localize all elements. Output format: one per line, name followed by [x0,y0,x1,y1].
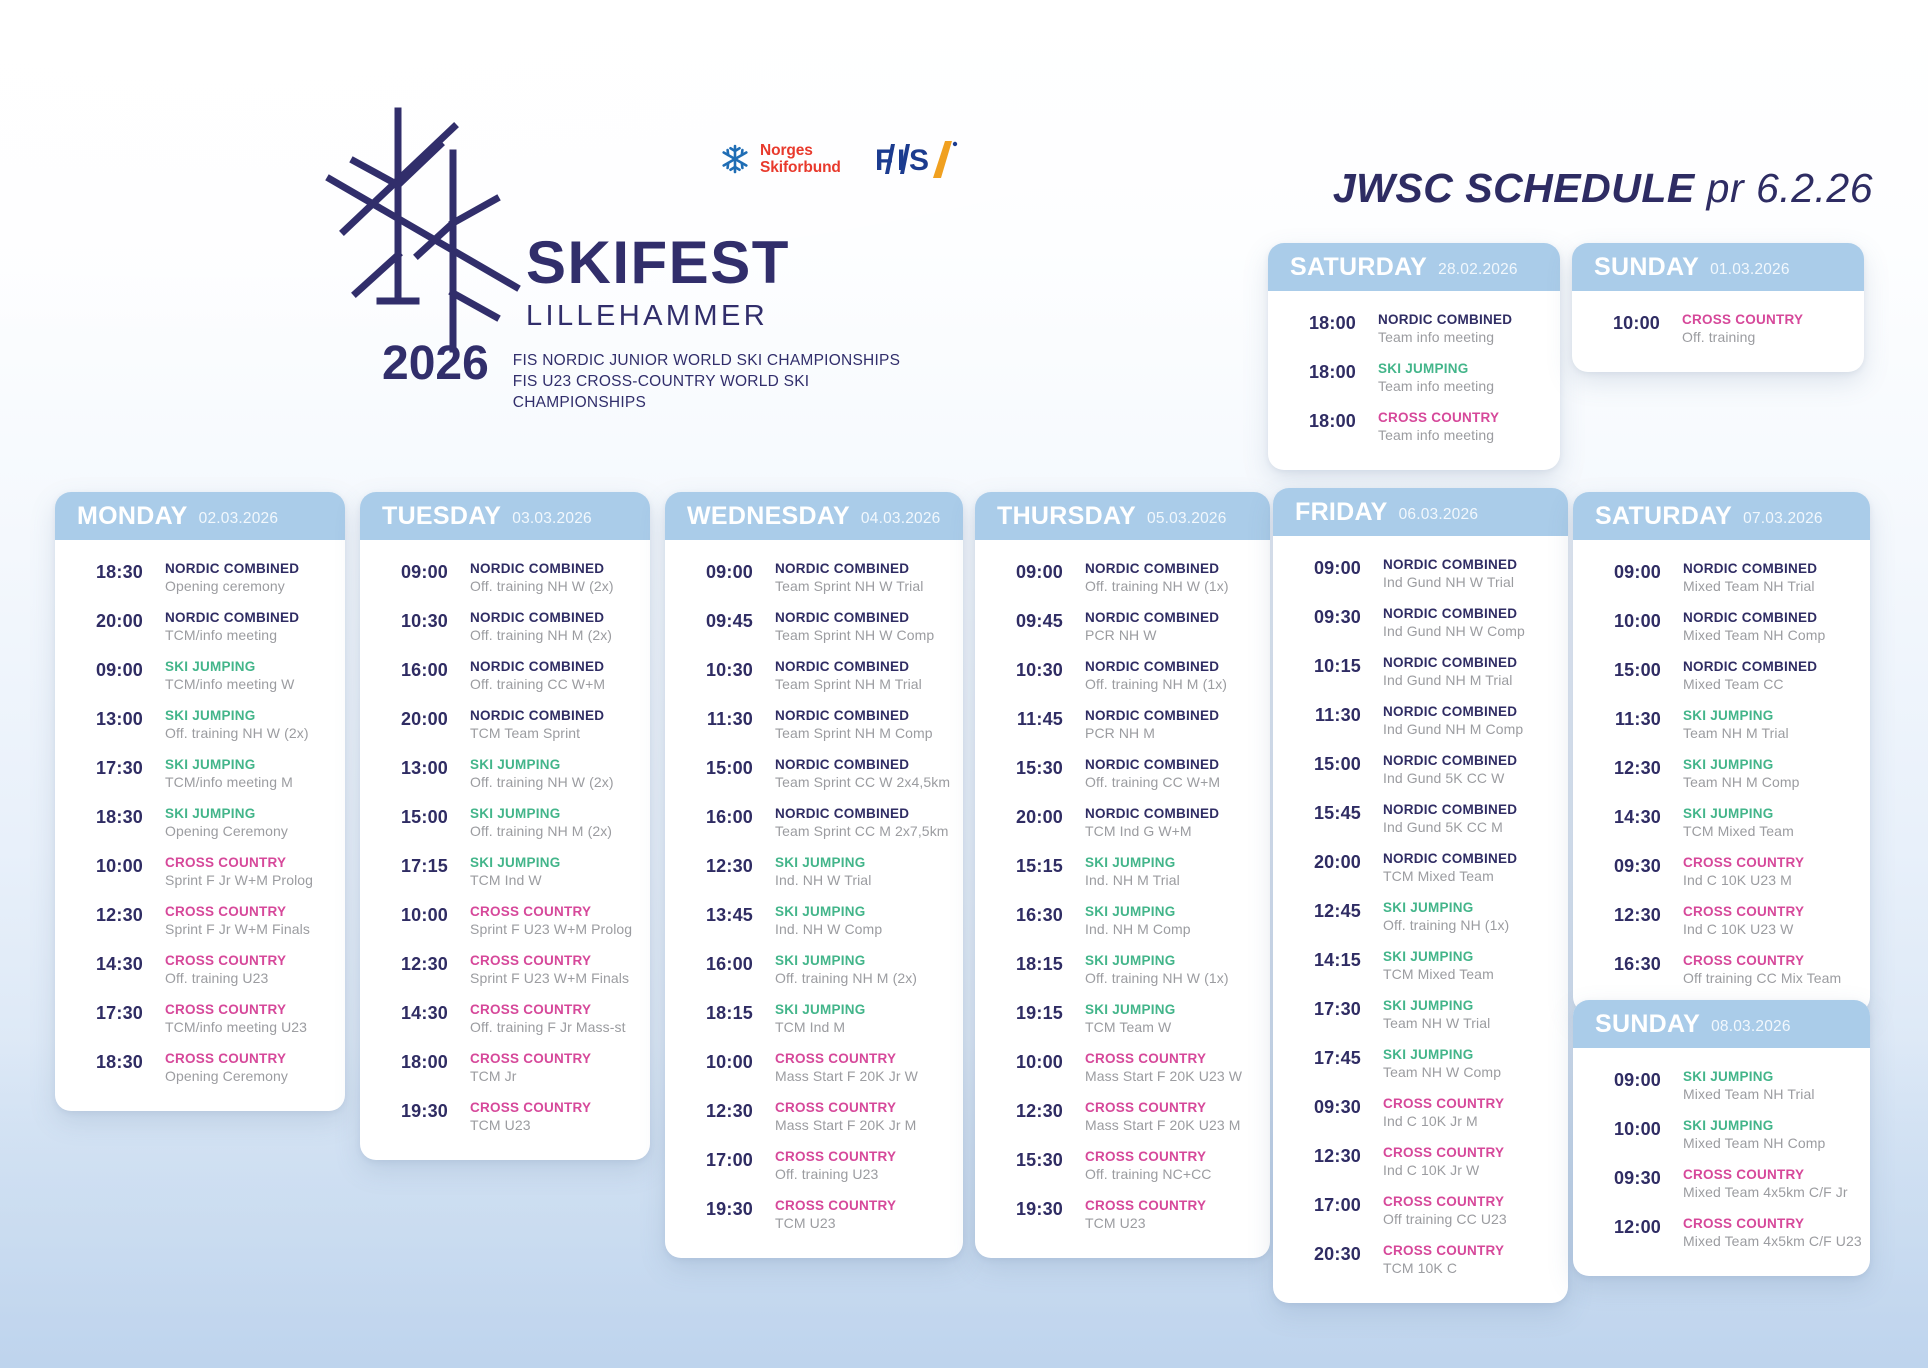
schedule-event-row[interactable]: 14:30CROSS COUNTRYOff. training U23 [69,946,331,995]
event-description: Off. training U23 [775,1166,949,1184]
day-date: 01.03.2026 [1710,257,1790,278]
event-discipline: CROSS COUNTRY [1383,1145,1554,1161]
event-discipline: CROSS COUNTRY [1383,1194,1554,1210]
event-discipline: SKI JUMPING [470,855,636,871]
event-discipline: NORDIC COMBINED [1085,708,1256,724]
event-details: NORDIC COMBINEDTeam Sprint CC W 2x4,5km [775,757,949,792]
schedule-event-row[interactable]: 18:00NORDIC COMBINEDTeam info meeting [1282,305,1546,354]
event-time: 10:00 [1586,312,1682,334]
event-details: SKI JUMPINGTCM/info meeting W [165,659,331,694]
event-discipline: CROSS COUNTRY [775,1100,949,1116]
event-details: CROSS COUNTRYSprint F U23 W+M Finals [470,953,636,988]
schedule-event-row[interactable]: 19:30CROSS COUNTRYTCM U23 [989,1191,1256,1240]
event-discipline: NORDIC COMBINED [775,806,949,822]
schedule-event-row[interactable]: 14:30CROSS COUNTRYOff. training F Jr Mas… [374,995,636,1044]
event-details: CROSS COUNTRYSprint F Jr W+M Prolog [165,855,331,890]
schedule-event-row[interactable]: 17:30CROSS COUNTRYTCM/info meeting U23 [69,995,331,1044]
event-details: CROSS COUNTRYOff training CC Mix Team [1683,953,1856,988]
schedule-event-row[interactable]: 16:00NORDIC COMBINEDOff. training CC W+M [374,652,636,701]
event-time: 09:00 [989,561,1085,583]
event-details: NORDIC COMBINEDInd Gund 5K CC M [1383,802,1554,837]
day-name: WEDNESDAY [687,504,850,529]
event-discipline: SKI JUMPING [1378,361,1546,377]
event-description: TCM/info meeting M [165,774,331,792]
event-details: CROSS COUNTRYTCM Jr [470,1051,636,1086]
schedule-event-row[interactable]: 10:00CROSS COUNTRYOff. training [1586,305,1850,354]
brand-subtitle-block: 2026 FIS NORDIC JUNIOR WORLD SKI CHAMPIO… [382,341,940,414]
event-description: Ind C 10K Jr W [1383,1162,1554,1180]
schedule-event-row[interactable]: 09:45NORDIC COMBINEDPCR NH W [989,603,1256,652]
event-description: TCM/info meeting [165,627,331,645]
event-details: CROSS COUNTRYOff. training U23 [165,953,331,988]
event-discipline: SKI JUMPING [1383,998,1554,1014]
event-details: NORDIC COMBINEDInd Gund NH W Comp [1383,606,1554,641]
event-time: 10:30 [679,659,775,681]
day-card-monday: MONDAY02.03.202618:30NORDIC COMBINEDOpen… [55,492,345,1111]
event-details: CROSS COUNTRYInd C 10K U23 M [1683,855,1856,890]
event-discipline: SKI JUMPING [1683,1069,1856,1085]
event-time: 18:30 [69,561,165,583]
schedule-event-row[interactable]: 10:00CROSS COUNTRYSprint F U23 W+M Prolo… [374,897,636,946]
brand-name: SKIFEST [526,233,790,293]
event-time: 14:15 [1287,949,1383,971]
event-details: CROSS COUNTRYTCM U23 [1085,1198,1256,1233]
event-discipline: NORDIC COMBINED [775,757,949,773]
event-discipline: NORDIC COMBINED [1085,610,1256,626]
event-details: NORDIC COMBINEDInd Gund NH M Trial [1383,655,1554,690]
schedule-event-row[interactable]: 19:30CROSS COUNTRYTCM U23 [374,1093,636,1142]
schedule-event-row[interactable]: 11:30NORDIC COMBINEDInd Gund NH M Comp [1287,697,1554,746]
event-discipline: NORDIC COMBINED [1383,704,1554,720]
event-time: 19:15 [989,1002,1085,1024]
event-time: 18:00 [1282,361,1378,383]
event-details: CROSS COUNTRYOff. training U23 [775,1149,949,1184]
event-time: 15:00 [1287,753,1383,775]
event-discipline: CROSS COUNTRY [775,1198,949,1214]
event-details: NORDIC COMBINEDTeam Sprint NH W Trial [775,561,949,596]
event-discipline: SKI JUMPING [1683,708,1856,724]
day-name: SUNDAY [1595,1012,1700,1037]
day-name: MONDAY [77,504,188,529]
event-time: 15:15 [989,855,1085,877]
schedule-event-row[interactable]: 15:15SKI JUMPINGInd. NH M Trial [989,848,1256,897]
event-discipline: NORDIC COMBINED [1683,561,1856,577]
event-time: 18:30 [69,806,165,828]
event-time: 09:00 [679,561,775,583]
event-description: Off. training F Jr Mass-st [470,1019,636,1037]
schedule-event-row[interactable]: 09:00NORDIC COMBINEDOff. training NH W (… [374,554,636,603]
event-details: NORDIC COMBINEDPCR NH M [1085,708,1256,743]
event-description: Mass Start F 20K Jr M [775,1117,949,1135]
event-discipline: NORDIC COMBINED [1085,806,1256,822]
event-time: 16:00 [374,659,470,681]
schedule-event-row[interactable]: 13:00SKI JUMPINGOff. training NH W (2x) [374,750,636,799]
event-time: 18:00 [1282,410,1378,432]
day-card-body: 18:00NORDIC COMBINEDTeam info meeting18:… [1268,291,1560,470]
event-details: NORDIC COMBINEDOff. training NH W (2x) [470,561,636,596]
event-time: 09:00 [1587,1069,1683,1091]
schedule-event-row[interactable]: 17:30SKI JUMPINGTCM/info meeting M [69,750,331,799]
event-time: 14:30 [374,1002,470,1024]
event-details: SKI JUMPINGTCM Team W [1085,1002,1256,1037]
event-details: NORDIC COMBINEDTeam Sprint NH W Comp [775,610,949,645]
event-time: 20:00 [989,806,1085,828]
schedule-event-row[interactable]: 13:00SKI JUMPINGOff. training NH W (2x) [69,701,331,750]
event-description: Off. training NH W (2x) [165,725,331,743]
event-details: CROSS COUNTRYOff training CC U23 [1383,1194,1554,1229]
event-time: 20:00 [374,708,470,730]
day-date: 06.03.2026 [1399,502,1479,523]
day-date: 02.03.2026 [199,506,279,527]
schedule-event-row[interactable]: 09:00NORDIC COMBINEDOff. training NH W (… [989,554,1256,603]
event-description: Team Sprint NH W Trial [775,578,949,596]
event-description: TCM Ind W [470,872,636,890]
event-details: NORDIC COMBINEDInd Gund 5K CC W [1383,753,1554,788]
day-card-header: FRIDAY06.03.2026 [1273,488,1568,536]
schedule-event-row[interactable]: 12:30CROSS COUNTRYMass Start F 20K U23 M [989,1093,1256,1142]
schedule-event-row[interactable]: 16:00SKI JUMPINGOff. training NH M (2x) [679,946,949,995]
event-time: 18:00 [374,1051,470,1073]
event-details: SKI JUMPINGInd. NH M Comp [1085,904,1256,939]
day-date: 08.03.2026 [1711,1014,1791,1035]
event-discipline: NORDIC COMBINED [1383,655,1554,671]
event-details: NORDIC COMBINEDOff. training CC W+M [1085,757,1256,792]
event-description: TCM 10K C [1383,1260,1554,1278]
event-time: 14:30 [1587,806,1683,828]
schedule-event-row[interactable]: 09:00NORDIC COMBINEDMixed Team NH Trial [1587,554,1856,603]
event-discipline: SKI JUMPING [1085,953,1256,969]
event-discipline: CROSS COUNTRY [775,1051,949,1067]
schedule-event-row[interactable]: 09:30CROSS COUNTRYMixed Team 4x5km C/F J… [1587,1160,1856,1209]
event-discipline: SKI JUMPING [470,757,636,773]
schedule-event-row[interactable]: 09:30CROSS COUNTRYInd C 10K Jr M [1287,1089,1554,1138]
event-discipline: NORDIC COMBINED [470,561,636,577]
event-discipline: NORDIC COMBINED [165,561,331,577]
event-details: SKI JUMPINGTeam NH M Trial [1683,708,1856,743]
event-time: 10:00 [1587,1118,1683,1140]
event-time: 14:30 [69,953,165,975]
schedule-event-row[interactable]: 17:15SKI JUMPINGTCM Ind W [374,848,636,897]
event-details: SKI JUMPINGTeam NH W Comp [1383,1047,1554,1082]
event-description: Team Sprint CC W 2x4,5km [775,774,949,792]
event-description: Ind. NH M Comp [1085,921,1256,939]
schedule-event-row[interactable]: 10:30NORDIC COMBINEDOff. training NH M (… [374,603,636,652]
event-time: 09:30 [1587,855,1683,877]
event-discipline: SKI JUMPING [165,757,331,773]
event-details: NORDIC COMBINEDTeam Sprint NH M Trial [775,659,949,694]
day-card-header: MONDAY02.03.2026 [55,492,345,540]
event-details: CROSS COUNTRYMass Start F 20K U23 W [1085,1051,1256,1086]
day-card-body: 09:00SKI JUMPINGMixed Team NH Trial10:00… [1573,1048,1870,1276]
event-discipline: CROSS COUNTRY [1085,1149,1256,1165]
event-time: 19:30 [374,1100,470,1122]
event-discipline: NORDIC COMBINED [470,610,636,626]
schedule-event-row[interactable]: 11:30SKI JUMPINGTeam NH M Trial [1587,701,1856,750]
schedule-event-row[interactable]: 10:00CROSS COUNTRYSprint F Jr W+M Prolog [69,848,331,897]
event-details: SKI JUMPINGTCM/info meeting M [165,757,331,792]
event-details: CROSS COUNTRYTCM U23 [775,1198,949,1233]
event-details: NORDIC COMBINEDTeam Sprint CC M 2x7,5km [775,806,949,841]
event-time: 16:30 [989,904,1085,926]
schedule-event-row[interactable]: 12:30CROSS COUNTRYInd C 10K Jr W [1287,1138,1554,1187]
fis-logo: F I S [875,138,959,180]
event-description: Mass Start F 20K U23 M [1085,1117,1256,1135]
svg-text:S: S [909,144,930,177]
event-time: 17:30 [69,1002,165,1024]
event-discipline: CROSS COUNTRY [1383,1243,1554,1259]
schedule-event-row[interactable]: 20:00NORDIC COMBINEDTCM/info meeting [69,603,331,652]
event-description: Off. training CC W+M [470,676,636,694]
day-card-saturday-07-03: SATURDAY07.03.202609:00NORDIC COMBINEDMi… [1573,492,1870,1013]
event-description: Team NH W Trial [1383,1015,1554,1033]
day-name: FRIDAY [1295,500,1388,525]
day-card-tuesday: TUESDAY03.03.202609:00NORDIC COMBINEDOff… [360,492,650,1160]
event-time: 09:45 [679,610,775,632]
event-time: 10:00 [989,1051,1085,1073]
event-description: Ind Gund NH W Trial [1383,574,1554,592]
schedule-event-row[interactable]: 18:00SKI JUMPINGTeam info meeting [1282,354,1546,403]
schedule-event-row[interactable]: 18:00CROSS COUNTRYTCM Jr [374,1044,636,1093]
schedule-event-row[interactable]: 20:00NORDIC COMBINEDTCM Ind G W+M [989,799,1256,848]
schedule-event-row[interactable]: 10:30NORDIC COMBINEDTeam Sprint NH M Tri… [679,652,949,701]
event-description: Sprint F Jr W+M Prolog [165,872,331,890]
event-discipline: CROSS COUNTRY [1085,1198,1256,1214]
schedule-event-row[interactable]: 17:30SKI JUMPINGTeam NH W Trial [1287,991,1554,1040]
event-time: 13:00 [374,757,470,779]
schedule-event-row[interactable]: 17:45SKI JUMPINGTeam NH W Comp [1287,1040,1554,1089]
event-details: SKI JUMPINGOff. training NH W (1x) [1085,953,1256,988]
day-card-body: 09:00NORDIC COMBINEDOff. training NH W (… [975,540,1270,1258]
schedule-event-row[interactable]: 09:00NORDIC COMBINEDInd Gund NH W Trial [1287,550,1554,599]
event-description: Ind Gund NH W Comp [1383,623,1554,641]
championship-lines: FIS NORDIC JUNIOR WORLD SKI CHAMPIONSHIP… [513,351,940,414]
event-details: CROSS COUNTRYTCM 10K C [1383,1243,1554,1278]
event-description: Team Sprint NH M Comp [775,725,949,743]
event-description: Team info meeting [1378,378,1546,396]
schedule-event-row[interactable]: 12:30CROSS COUNTRYInd C 10K U23 W [1587,897,1856,946]
schedule-event-row[interactable]: 15:30NORDIC COMBINEDOff. training CC W+M [989,750,1256,799]
event-time: 10:30 [989,659,1085,681]
event-details: SKI JUMPINGMixed Team NH Trial [1683,1069,1856,1104]
event-discipline: NORDIC COMBINED [1383,606,1554,622]
schedule-event-row[interactable]: 09:45NORDIC COMBINEDTeam Sprint NH W Com… [679,603,949,652]
event-discipline: CROSS COUNTRY [470,1002,636,1018]
event-discipline: NORDIC COMBINED [775,561,949,577]
schedule-event-row[interactable]: 18:30SKI JUMPINGOpening Ceremony [69,799,331,848]
event-description: Ind C 10K U23 M [1683,872,1856,890]
event-discipline: CROSS COUNTRY [1683,953,1856,969]
schedule-event-row[interactable]: 18:15SKI JUMPINGOff. training NH W (1x) [989,946,1256,995]
event-time: 09:30 [1287,1096,1383,1118]
event-details: NORDIC COMBINEDInd Gund NH W Trial [1383,557,1554,592]
event-discipline: CROSS COUNTRY [165,855,331,871]
event-time: 20:00 [69,610,165,632]
schedule-event-row[interactable]: 14:15SKI JUMPINGTCM Mixed Team [1287,942,1554,991]
event-discipline: SKI JUMPING [1683,806,1856,822]
schedule-event-row[interactable]: 10:30NORDIC COMBINEDOff. training NH M (… [989,652,1256,701]
day-date: 05.03.2026 [1147,506,1227,527]
day-card-header: SATURDAY07.03.2026 [1573,492,1870,540]
event-description: Mass Start F 20K U23 W [1085,1068,1256,1086]
day-card-friday: FRIDAY06.03.202609:00NORDIC COMBINEDInd … [1273,488,1568,1303]
event-discipline: SKI JUMPING [1683,1118,1856,1134]
schedule-event-row[interactable]: 15:30CROSS COUNTRYOff. training NC+CC [989,1142,1256,1191]
event-time: 16:30 [1587,953,1683,975]
event-description: Off. training NH W (2x) [470,774,636,792]
event-description: Opening Ceremony [165,823,331,841]
event-discipline: SKI JUMPING [1085,1002,1256,1018]
event-time: 17:30 [1287,998,1383,1020]
event-description: Ind Gund NH M Comp [1383,721,1554,739]
schedule-event-row[interactable]: 18:30CROSS COUNTRYOpening Ceremony [69,1044,331,1093]
event-description: Team NH W Comp [1383,1064,1554,1082]
schedule-event-row[interactable]: 10:00CROSS COUNTRYMass Start F 20K U23 W [989,1044,1256,1093]
day-card-header: WEDNESDAY04.03.2026 [665,492,963,540]
event-description: TCM U23 [470,1117,636,1135]
schedule-event-row[interactable]: 15:00NORDIC COMBINEDTeam Sprint CC W 2x4… [679,750,949,799]
event-details: SKI JUMPINGTCM Mixed Team [1383,949,1554,984]
event-discipline: CROSS COUNTRY [1683,1216,1856,1232]
event-description: TCM/info meeting W [165,676,331,694]
event-time: 15:30 [989,1149,1085,1171]
schedule-event-row[interactable]: 09:00NORDIC COMBINEDTeam Sprint NH W Tri… [679,554,949,603]
event-description: Sprint F Jr W+M Finals [165,921,331,939]
event-discipline: CROSS COUNTRY [470,1051,636,1067]
event-discipline: CROSS COUNTRY [165,1002,331,1018]
event-description: Off. training NH M (1x) [1085,676,1256,694]
event-description: Off. training NH W (1x) [1085,578,1256,596]
day-name: TUESDAY [382,504,501,529]
event-details: NORDIC COMBINEDTeam info meeting [1378,312,1546,347]
event-discipline: SKI JUMPING [1383,1047,1554,1063]
schedule-event-row[interactable]: 16:30CROSS COUNTRYOff training CC Mix Te… [1587,946,1856,995]
schedule-event-row[interactable]: 12:00CROSS COUNTRYMixed Team 4x5km C/F U… [1587,1209,1856,1258]
schedule-event-row[interactable]: 13:45SKI JUMPINGInd. NH W Comp [679,897,949,946]
event-description: Ind. NH W Comp [775,921,949,939]
schedule-event-row[interactable]: 18:00CROSS COUNTRYTeam info meeting [1282,403,1546,452]
event-discipline: NORDIC COMBINED [775,708,949,724]
event-discipline: CROSS COUNTRY [1683,855,1856,871]
event-details: SKI JUMPINGTCM Mixed Team [1683,806,1856,841]
schedule-event-row[interactable]: 12:30CROSS COUNTRYMass Start F 20K Jr M [679,1093,949,1142]
event-details: NORDIC COMBINEDTCM Team Sprint [470,708,636,743]
event-discipline: NORDIC COMBINED [1378,312,1546,328]
schedule-event-row[interactable]: 09:30NORDIC COMBINEDInd Gund NH W Comp [1287,599,1554,648]
event-details: SKI JUMPINGTCM Ind M [775,1002,949,1037]
event-discipline: NORDIC COMBINED [775,610,949,626]
event-time: 12:30 [1587,757,1683,779]
schedule-event-row[interactable]: 09:00SKI JUMPINGMixed Team NH Trial [1587,1062,1856,1111]
schedule-event-row[interactable]: 17:00CROSS COUNTRYOff training CC U23 [1287,1187,1554,1236]
schedule-event-row[interactable]: 15:45NORDIC COMBINEDInd Gund 5K CC M [1287,795,1554,844]
event-time: 15:00 [1587,659,1683,681]
schedule-title-date: pr 6.2.26 [1707,165,1873,211]
event-time: 18:15 [679,1002,775,1024]
event-description: Mixed Team CC [1683,676,1856,694]
event-details: CROSS COUNTRYOff. training F Jr Mass-st [470,1002,636,1037]
schedule-event-row[interactable]: 20:00NORDIC COMBINEDTCM Mixed Team [1287,844,1554,893]
nsf-snowflake-icon [718,142,752,176]
event-description: Team Sprint NH M Trial [775,676,949,694]
event-details: SKI JUMPINGTCM Ind W [470,855,636,890]
event-description: Mixed Team NH Trial [1683,1086,1856,1104]
day-name: SATURDAY [1290,255,1427,280]
event-description: Sprint F U23 W+M Prolog [470,921,636,939]
event-time: 12:30 [679,855,775,877]
event-description: Off. training [1682,329,1850,347]
brand-wordmark: SKIFEST LILLEHAMMER [526,233,790,331]
event-details: NORDIC COMBINEDOpening ceremony [165,561,331,596]
event-discipline: SKI JUMPING [775,1002,949,1018]
schedule-event-row[interactable]: 20:30CROSS COUNTRYTCM 10K C [1287,1236,1554,1285]
event-details: CROSS COUNTRYInd C 10K U23 W [1683,904,1856,939]
event-details: CROSS COUNTRYSprint F Jr W+M Finals [165,904,331,939]
schedule-event-row[interactable]: 11:30NORDIC COMBINEDTeam Sprint NH M Com… [679,701,949,750]
schedule-event-row[interactable]: 18:30NORDIC COMBINEDOpening ceremony [69,554,331,603]
schedule-event-row[interactable]: 20:00NORDIC COMBINEDTCM Team Sprint [374,701,636,750]
schedule-event-row[interactable]: 15:00NORDIC COMBINEDMixed Team CC [1587,652,1856,701]
event-time: 13:45 [679,904,775,926]
event-discipline: NORDIC COMBINED [1383,557,1554,573]
schedule-event-row[interactable]: 18:15SKI JUMPINGTCM Ind M [679,995,949,1044]
schedule-event-row[interactable]: 15:00NORDIC COMBINEDInd Gund 5K CC W [1287,746,1554,795]
event-time: 12:30 [374,953,470,975]
schedule-event-row[interactable]: 12:30CROSS COUNTRYSprint F U23 W+M Final… [374,946,636,995]
event-time: 12:30 [989,1100,1085,1122]
schedule-event-row[interactable]: 10:00SKI JUMPINGMixed Team NH Comp [1587,1111,1856,1160]
schedule-event-row[interactable]: 19:30CROSS COUNTRYTCM U23 [679,1191,949,1240]
day-card-body: 09:00NORDIC COMBINEDTeam Sprint NH W Tri… [665,540,963,1258]
schedule-event-row[interactable]: 12:45SKI JUMPINGOff. training NH (1x) [1287,893,1554,942]
day-card-body: 18:30NORDIC COMBINEDOpening ceremony20:0… [55,540,345,1111]
event-discipline: CROSS COUNTRY [470,1100,636,1116]
schedule-event-row[interactable]: 10:15NORDIC COMBINEDInd Gund NH M Trial [1287,648,1554,697]
event-discipline: CROSS COUNTRY [470,953,636,969]
schedule-event-row[interactable]: 14:30SKI JUMPINGTCM Mixed Team [1587,799,1856,848]
schedule-event-row[interactable]: 12:30SKI JUMPINGInd. NH W Trial [679,848,949,897]
event-description: Team Sprint NH W Comp [775,627,949,645]
schedule-event-row[interactable]: 17:00CROSS COUNTRYOff. training U23 [679,1142,949,1191]
schedule-event-row[interactable]: 19:15SKI JUMPINGTCM Team W [989,995,1256,1044]
event-time: 15:00 [374,806,470,828]
schedule-event-row[interactable]: 10:00CROSS COUNTRYMass Start F 20K Jr W [679,1044,949,1093]
schedule-event-row[interactable]: 12:30CROSS COUNTRYSprint F Jr W+M Finals [69,897,331,946]
day-name: SUNDAY [1594,255,1699,280]
event-details: SKI JUMPINGOff. training NH M (2x) [775,953,949,988]
event-discipline: NORDIC COMBINED [1383,802,1554,818]
partner-logos: Norges Skiforbund F I S [718,138,959,180]
event-description: Off. training NH W (1x) [1085,970,1256,988]
day-card-thursday: THURSDAY05.03.202609:00NORDIC COMBINEDOf… [975,492,1270,1258]
day-card-header: THURSDAY05.03.2026 [975,492,1270,540]
schedule-event-row[interactable]: 10:00NORDIC COMBINEDMixed Team NH Comp [1587,603,1856,652]
event-time: 19:30 [679,1198,775,1220]
schedule-event-row[interactable]: 16:30SKI JUMPINGInd. NH M Comp [989,897,1256,946]
event-discipline: CROSS COUNTRY [165,1051,331,1067]
schedule-event-row[interactable]: 12:30SKI JUMPINGTeam NH M Comp [1587,750,1856,799]
event-details: NORDIC COMBINEDOff. training NH M (1x) [1085,659,1256,694]
schedule-event-row[interactable]: 11:45NORDIC COMBINEDPCR NH M [989,701,1256,750]
day-date: 28.02.2026 [1438,257,1518,278]
schedule-event-row[interactable]: 09:30CROSS COUNTRYInd C 10K U23 M [1587,848,1856,897]
schedule-event-row[interactable]: 09:00SKI JUMPINGTCM/info meeting W [69,652,331,701]
event-details: SKI JUMPINGOff. training NH (1x) [1383,900,1554,935]
schedule-event-row[interactable]: 16:00NORDIC COMBINEDTeam Sprint CC M 2x7… [679,799,949,848]
event-description: TCM Jr [470,1068,636,1086]
event-description: TCM Team W [1085,1019,1256,1037]
schedule-event-row[interactable]: 15:00SKI JUMPINGOff. training NH M (2x) [374,799,636,848]
event-time: 18:00 [1282,312,1378,334]
